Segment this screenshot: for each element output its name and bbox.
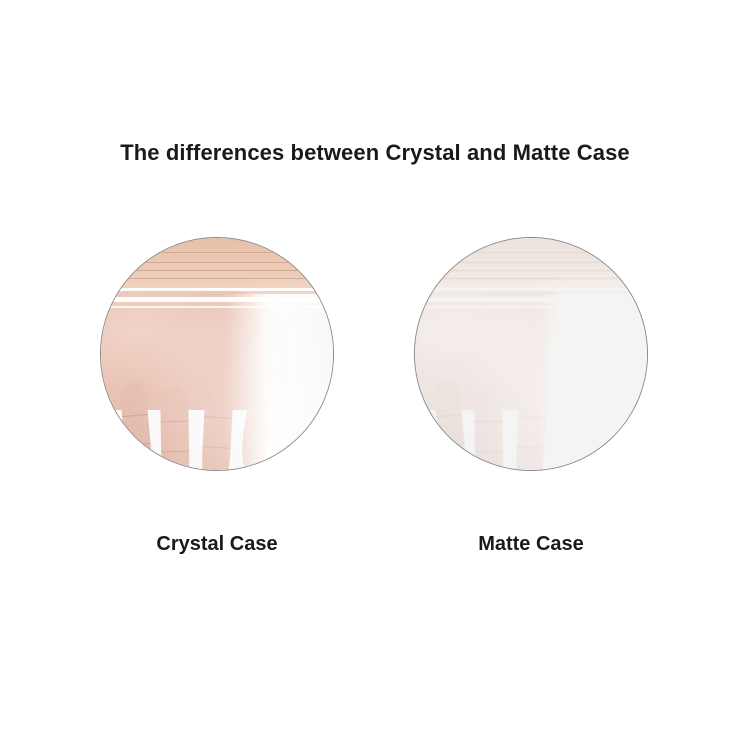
product-comparison-page: The differences between Crystal and Matt… — [0, 0, 750, 750]
hand-through-crystal-case — [101, 238, 333, 470]
case-gloss — [101, 238, 333, 470]
page-title: The differences between Crystal and Matt… — [0, 140, 750, 166]
matte-case-image — [414, 237, 648, 471]
caption-crystal-case: Crystal Case — [100, 533, 334, 556]
frosted-haze-overlay — [415, 238, 647, 470]
caption-matte-case: Matte Case — [414, 533, 648, 556]
comparison-item-crystal — [100, 237, 334, 471]
comparison-item-matte — [414, 237, 648, 471]
crystal-case-image — [100, 237, 334, 471]
